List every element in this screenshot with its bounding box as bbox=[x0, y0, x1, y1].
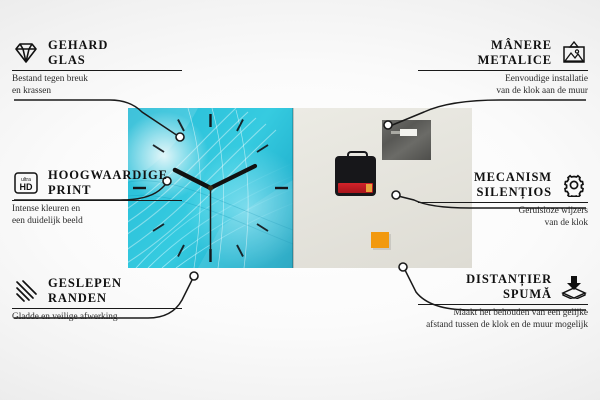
feature-header: DISTANȚIERSPUMĂ bbox=[418, 272, 588, 301]
gear-icon bbox=[560, 171, 588, 199]
divider bbox=[418, 202, 588, 203]
feature-description: Gladde en veilige afwerking bbox=[12, 312, 182, 324]
feature-title: DISTANȚIERSPUMĂ bbox=[466, 272, 552, 301]
feature-header: MÂNEREMETALICE bbox=[418, 38, 588, 67]
feature-title: HOOGWAARDIGEPRINT bbox=[48, 168, 168, 197]
divider bbox=[12, 200, 182, 201]
feature-title: GESLEPENRANDEN bbox=[48, 276, 122, 305]
feature-description: Maakt het behouden van een gelijkeafstan… bbox=[392, 308, 588, 331]
ultra-hd-icon: ultra HD bbox=[12, 169, 40, 197]
divider bbox=[418, 70, 588, 71]
divider bbox=[12, 70, 182, 71]
feature-header: GESLEPENRANDEN bbox=[12, 276, 182, 305]
feature-description: Bestand tegen breuken krassen bbox=[12, 74, 182, 97]
feature-title: MECANISMSILENȚIOS bbox=[474, 170, 552, 199]
divider bbox=[418, 304, 588, 305]
feature-header: MECANISMSILENȚIOS bbox=[418, 170, 588, 199]
feature-description: Eenvoudige installatievan de klok aan de… bbox=[418, 74, 588, 97]
divider bbox=[12, 308, 182, 309]
feature-description: Intense kleuren eneen duidelijk beeld bbox=[12, 204, 182, 227]
press-down-arrow-icon bbox=[560, 273, 588, 301]
feature-manere-metalice: MÂNEREMETALICE Eenvoudige installatievan… bbox=[418, 38, 588, 98]
feature-distantier-spuma: DISTANȚIERSPUMĂ Maakt het behouden van e… bbox=[418, 272, 588, 332]
feature-title: GEHARDGLAS bbox=[48, 38, 108, 67]
infographic-stage: GEHARDGLAS Bestand tegen breuken krassen… bbox=[0, 0, 600, 400]
svg-text:HD: HD bbox=[20, 182, 33, 192]
feature-geslepen-randen: GESLEPENRANDEN Gladde en veilige afwerki… bbox=[12, 276, 182, 324]
feature-hoogwaardige-print: ultra HD HOOGWAARDIGEPRINT Intense kleur… bbox=[12, 168, 182, 228]
picture-frame-icon bbox=[560, 39, 588, 67]
diamond-icon bbox=[12, 39, 40, 67]
diagonal-lines-icon bbox=[12, 277, 40, 305]
feature-mecanism-silentios: MECANISMSILENȚIOS Geruisloze wijzersvan … bbox=[418, 170, 588, 230]
feature-gehard-glas: GEHARDGLAS Bestand tegen breuken krassen bbox=[12, 38, 182, 98]
feature-title: MÂNEREMETALICE bbox=[478, 38, 552, 67]
feature-header: GEHARDGLAS bbox=[12, 38, 182, 67]
feature-description: Geruisloze wijzersvan de klok bbox=[418, 206, 588, 229]
feature-header: ultra HD HOOGWAARDIGEPRINT bbox=[12, 168, 182, 197]
